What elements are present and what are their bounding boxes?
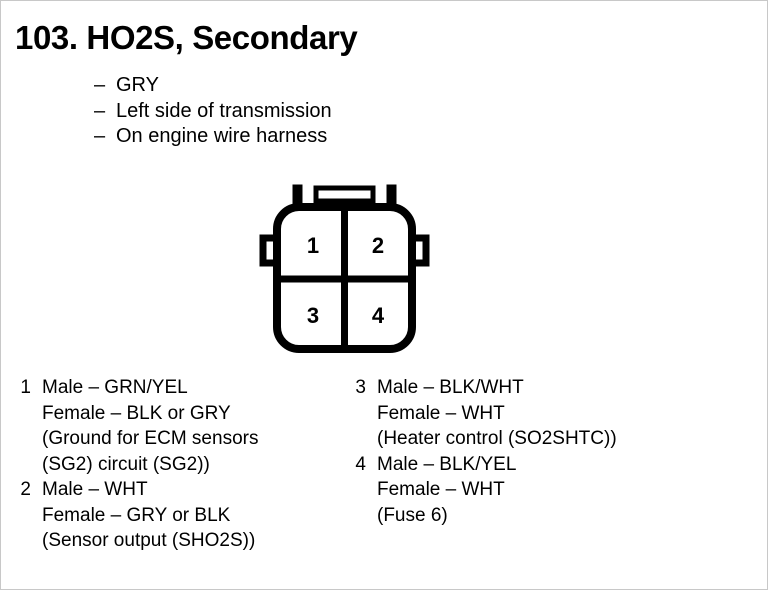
- pin-legend-left: 1 Male – GRN/YEL Female – BLK or GRY (Gr…: [17, 375, 347, 554]
- pin-entry-3-line-0: Male – BLK/WHT: [377, 377, 524, 398]
- pin-number-4: 4: [372, 303, 385, 328]
- dash-icon: –: [94, 124, 116, 150]
- bullet-item-1-label: Left side of transmission: [116, 99, 332, 125]
- pin-number-3: 3: [307, 303, 319, 328]
- pin-entry-4-lines: Male – BLK/YEL Female – WHT (Fuse 6): [366, 452, 516, 529]
- pin-entry-1: 1 Male – GRN/YEL Female – BLK or GRY (Gr…: [17, 375, 347, 477]
- pin-entry-4-number: 4: [352, 452, 366, 478]
- pin-entry-2-line-0: Male – WHT: [42, 479, 148, 500]
- pin-number-1: 1: [307, 233, 319, 258]
- pin-entry-1-line-2: (Ground for ECM sensors: [42, 428, 258, 449]
- dash-icon: –: [94, 99, 116, 125]
- pin-entry-1-line-1: Female – BLK or GRY: [42, 403, 231, 424]
- diagram-page: 103. HO2S, Secondary – GRY – Left side o…: [0, 0, 768, 590]
- pin-number-2: 2: [372, 233, 384, 258]
- pin-entry-3-line-2: (Heater control (SO2SHTC)): [377, 428, 617, 449]
- bullet-item-2-label: On engine wire harness: [116, 124, 327, 150]
- pin-entry-1-line-3: (SG2) circuit (SG2)): [42, 454, 210, 475]
- page-title: 103. HO2S, Secondary: [15, 19, 357, 57]
- pin-entry-4-line-2: (Fuse 6): [377, 505, 448, 526]
- latch-bar-icon: [316, 188, 373, 201]
- pin-entry-2-number: 2: [17, 477, 31, 503]
- attribute-bullet-list: – GRY – Left side of transmission – On e…: [94, 73, 332, 150]
- dash-icon: –: [94, 73, 116, 99]
- pin-entry-3-number: 3: [352, 375, 366, 401]
- pin-entry-3-line-1: Female – WHT: [377, 403, 505, 424]
- connector-svg: 1 2 3 4: [253, 183, 443, 361]
- pin-legend-right: 3 Male – BLK/WHT Female – WHT (Heater co…: [352, 375, 752, 528]
- connector-diagram: 1 2 3 4: [253, 183, 443, 361]
- pin-entry-1-lines: Male – GRN/YEL Female – BLK or GRY (Grou…: [31, 375, 258, 477]
- pin-entry-2: 2 Male – WHT Female – GRY or BLK (Sensor…: [17, 477, 347, 554]
- bullet-item-2: – On engine wire harness: [94, 124, 332, 150]
- pin-entry-1-line-0: Male – GRN/YEL: [42, 377, 188, 398]
- pin-entry-3: 3 Male – BLK/WHT Female – WHT (Heater co…: [352, 375, 752, 452]
- pin-entry-2-line-2: (Sensor output (SHO2S)): [42, 530, 255, 551]
- pin-entry-2-line-1: Female – GRY or BLK: [42, 505, 230, 526]
- bullet-item-0: – GRY: [94, 73, 332, 99]
- pin-entry-4-line-0: Male – BLK/YEL: [377, 454, 516, 475]
- pin-entry-4-line-1: Female – WHT: [377, 479, 505, 500]
- bullet-item-0-label: GRY: [116, 73, 159, 99]
- pin-entry-1-number: 1: [17, 375, 31, 401]
- bullet-item-1: – Left side of transmission: [94, 99, 332, 125]
- pin-entry-4: 4 Male – BLK/YEL Female – WHT (Fuse 6): [352, 452, 752, 529]
- pin-entry-3-lines: Male – BLK/WHT Female – WHT (Heater cont…: [366, 375, 617, 452]
- pin-entry-2-lines: Male – WHT Female – GRY or BLK (Sensor o…: [31, 477, 255, 554]
